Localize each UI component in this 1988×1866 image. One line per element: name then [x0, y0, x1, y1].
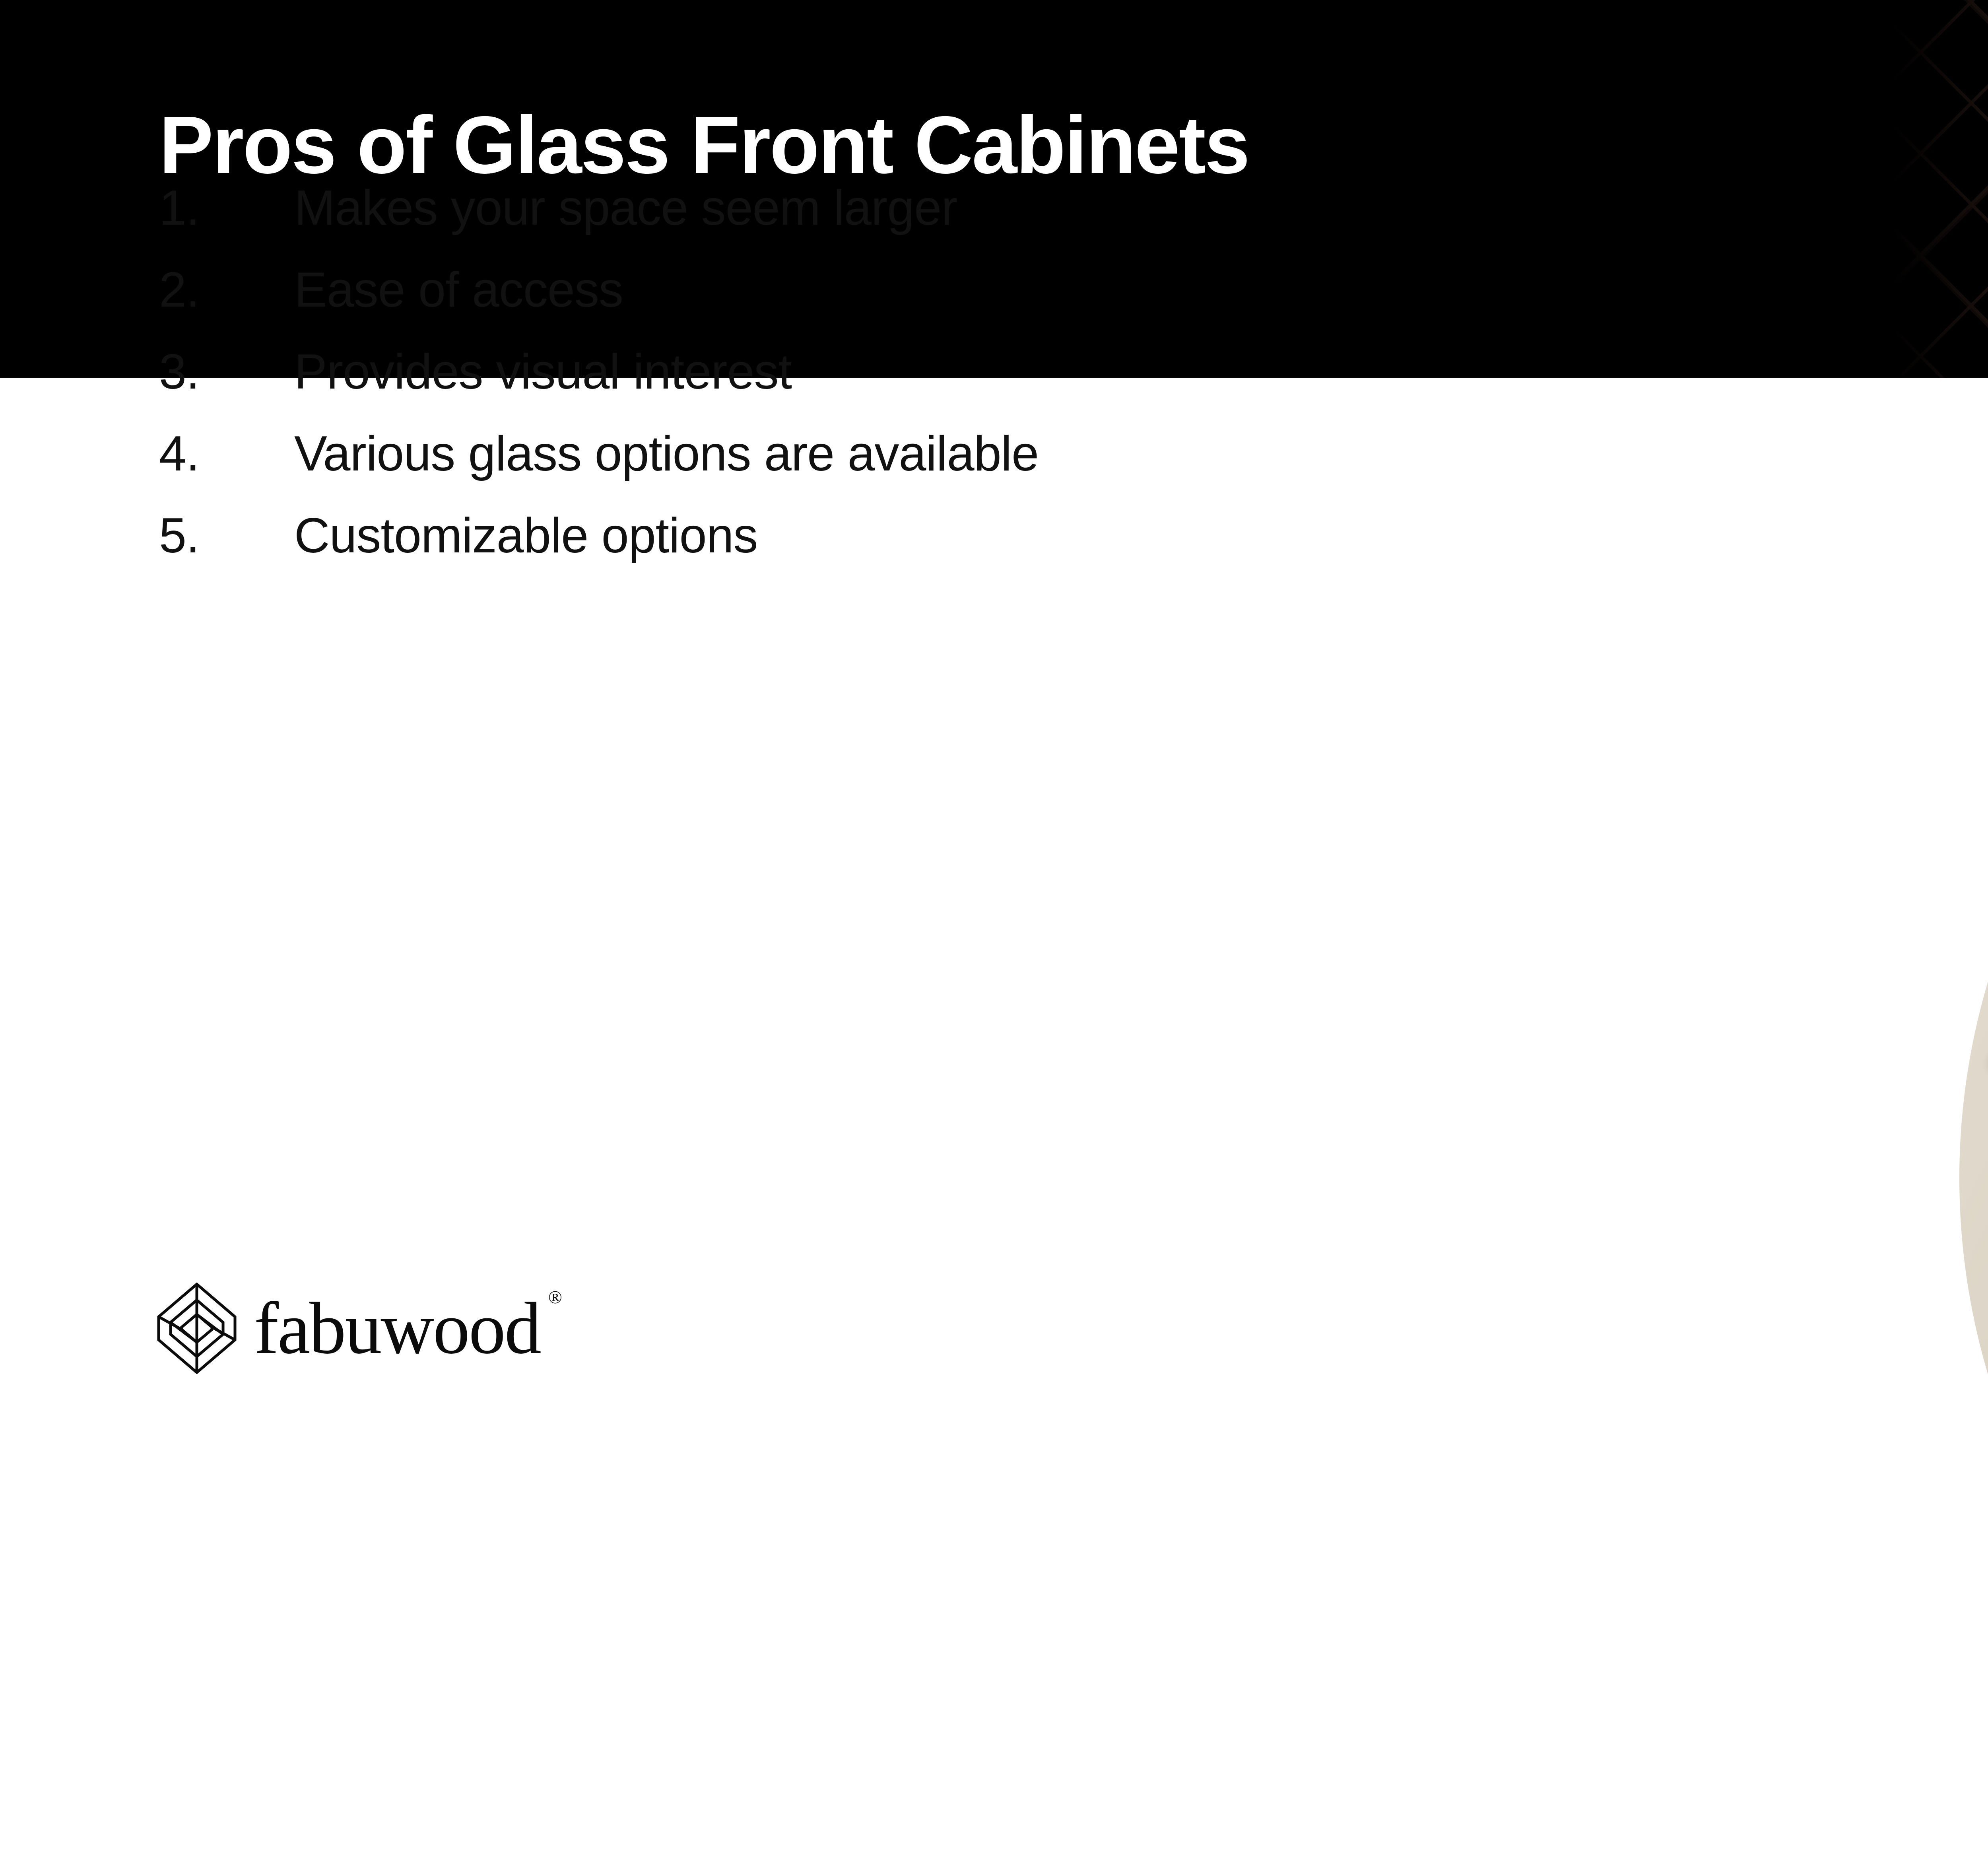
kitchen-photo-image: [1959, 490, 1988, 1866]
fabuwood-logo: fabuwood®: [157, 1283, 540, 1374]
art-deco-pattern-icon: [1892, 0, 1988, 378]
pros-list: 1. Makes your space seem larger 2. Ease …: [159, 167, 1039, 577]
list-item-label: Various glass options are available: [294, 413, 1039, 495]
list-item-label: Customizable options: [294, 495, 758, 577]
list-item: 4. Various glass options are available: [159, 413, 1039, 495]
list-item: 3. Provides visual interest: [159, 331, 1039, 413]
registered-trademark-icon: ®: [548, 1288, 561, 1306]
list-item-number: 5.: [159, 495, 294, 577]
list-item: 1. Makes your space seem larger: [159, 167, 1039, 249]
fabuwood-wordmark: fabuwood®: [254, 1291, 540, 1365]
list-item-label: Provides visual interest: [294, 331, 792, 413]
list-item-number: 3.: [159, 331, 294, 413]
list-item-number: 4.: [159, 413, 294, 495]
list-item-number: 1.: [159, 167, 294, 249]
kitchen-photo: [1959, 490, 1988, 1866]
list-item: 2. Ease of access: [159, 249, 1039, 331]
list-item-label: Makes your space seem larger: [294, 167, 957, 249]
list-item-label: Ease of access: [294, 249, 623, 331]
left-wall: [1959, 490, 1988, 1866]
list-item-number: 2.: [159, 249, 294, 331]
fabuwood-diamond-mark-icon: [157, 1283, 237, 1374]
list-item: 5. Customizable options: [159, 495, 1039, 577]
